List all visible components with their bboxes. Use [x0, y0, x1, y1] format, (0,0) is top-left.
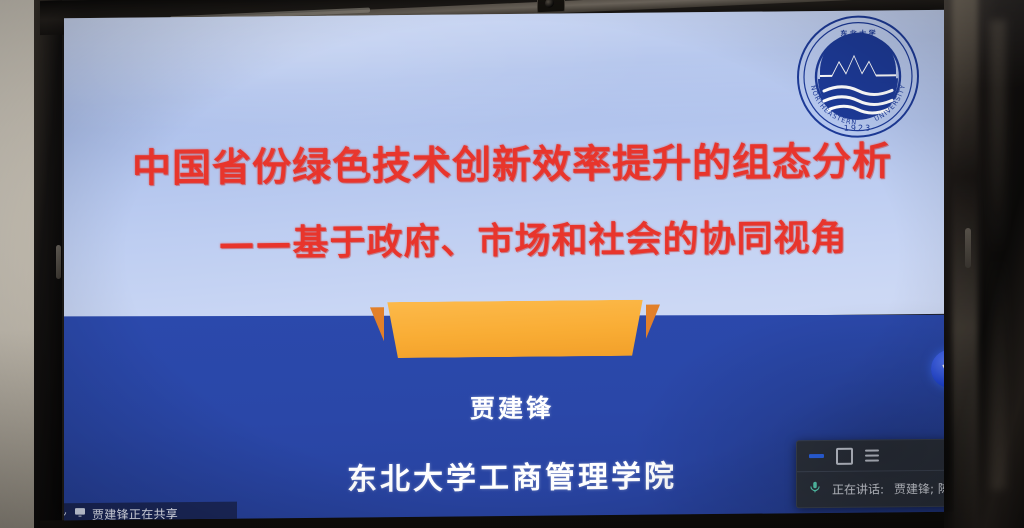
orange-ribbon-graphic: [370, 297, 660, 362]
slide-title-block: 中国省份绿色技术创新效率提升的组态分析 ——基于政府、市场和社会的协同视角: [64, 130, 954, 269]
monitor-icon: [74, 505, 86, 520]
display-screen[interactable]: 东 北 大 学 NORTHEASTERN UNIVERSITY 1923 中国省…: [64, 10, 954, 521]
meeting-window-controls: [797, 440, 954, 473]
ribbon-flap-right: [646, 305, 660, 339]
university-logo: 东 北 大 学 NORTHEASTERN UNIVERSITY 1923: [794, 12, 922, 141]
camera-module: [537, 0, 565, 13]
maximize-icon[interactable]: [836, 447, 853, 464]
minimize-icon[interactable]: [809, 454, 824, 458]
screen-share-status-bar: 贾建锋正在共享: [64, 502, 237, 521]
svg-text:东 北 大 学: 东 北 大 学: [840, 28, 875, 37]
speaking-label: 正在讲话:: [832, 480, 884, 497]
speaking-indicator-row: 正在讲话: 贾建锋; 陈抒;: [797, 471, 954, 508]
display-side-button-right[interactable]: [965, 228, 971, 268]
meeting-control-overlay[interactable]: 正在讲话: 贾建锋; 陈抒;: [796, 439, 954, 509]
ribbon-flap-left: [370, 307, 384, 341]
microphone-icon[interactable]: [808, 480, 822, 499]
ribbon-body: [382, 300, 648, 359]
slide-title-main: 中国省份绿色技术创新效率提升的组态分析: [64, 130, 954, 195]
microphone-icon: [64, 505, 68, 520]
share-status-text: 贾建锋正在共享: [92, 505, 178, 521]
screenshot-root: 东 北 大 学 NORTHEASTERN UNIVERSITY 1923 中国省…: [0, 0, 1024, 528]
bezel-reflection-secondary: [990, 20, 1006, 490]
presentation-slide: 东 北 大 学 NORTHEASTERN UNIVERSITY 1923 中国省…: [64, 10, 954, 521]
camera-lens-icon: [545, 0, 554, 8]
hamburger-menu-icon[interactable]: [865, 449, 879, 461]
display-side-button-left[interactable]: [56, 245, 61, 279]
display-bezel-right: [944, 0, 1024, 528]
slide-title-subtitle: ——基于政府、市场和社会的协同视角: [64, 208, 954, 269]
